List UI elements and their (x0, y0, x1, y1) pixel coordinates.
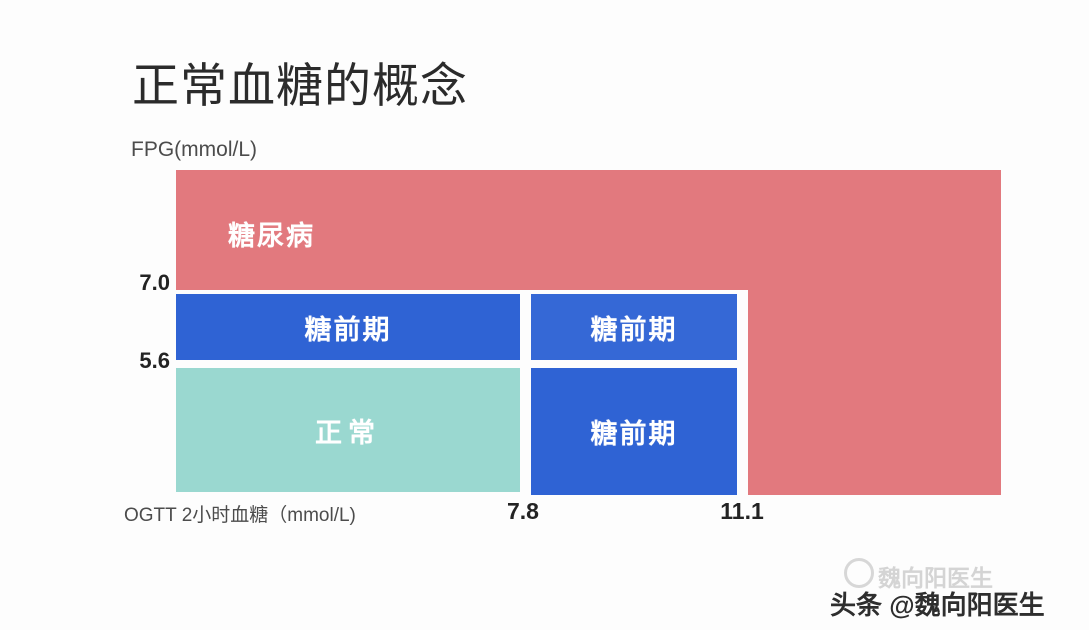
y-tick-label-5-6: 5.6 (126, 348, 170, 374)
x-tick-label-7-8: 7.8 (492, 498, 554, 525)
watermark: 魏向阳医生 头条 @魏向阳医生 (830, 585, 1080, 623)
region-label-prediabetes-mid-top: 糖前期 (591, 308, 678, 347)
region-label-prediabetes-mid-bottom: 糖前期 (591, 412, 678, 451)
region-label-prediabetes-left: 糖前期 (305, 308, 392, 347)
page-title: 正常血糖的概念 (132, 60, 468, 112)
watermark-ghost-logo-icon (844, 558, 874, 588)
region-prediabetes-mid-top: 糖前期 (531, 294, 737, 360)
region-normal: 正常 (176, 368, 520, 492)
region-label-diabetes: 糖尿病 (228, 214, 315, 253)
region-diabetes-top: 糖尿病 (176, 170, 1001, 290)
x-tick-label-11-1: 11.1 (706, 498, 778, 525)
region-label-normal: 正常 (315, 411, 381, 450)
watermark-main-text: 头条 @魏向阳医生 (830, 585, 1045, 622)
slide-root: 正常血糖的概念 FPG(mmol/L) 糖尿病 糖前期 糖前期 糖前期 正常 7… (0, 0, 1089, 630)
x-axis-caption: OGTT 2小时血糖（mmol/L) (124, 500, 356, 527)
region-prediabetes-mid-bottom: 糖前期 (531, 368, 737, 495)
y-axis-caption: FPG(mmol/L) (131, 138, 257, 162)
region-prediabetes-left: 糖前期 (176, 294, 520, 360)
y-tick-label-7-0: 7.0 (126, 270, 170, 296)
chart-plot-area: 糖尿病 糖前期 糖前期 糖前期 正常 (176, 170, 1001, 495)
region-diabetes-right (748, 290, 1001, 495)
